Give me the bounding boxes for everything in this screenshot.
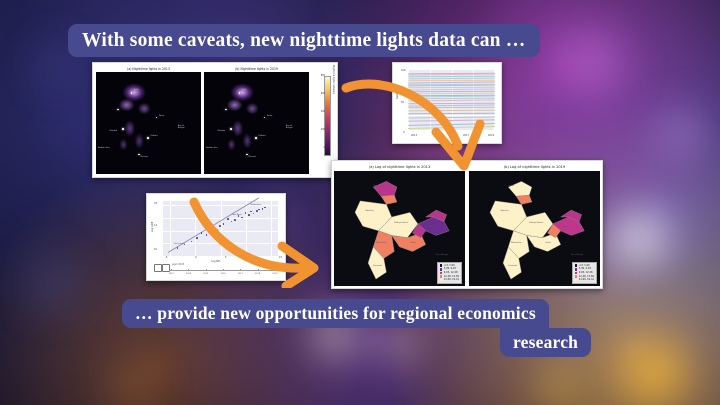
scatter-ytick: 14 xyxy=(154,224,157,227)
line-ytick: 50 xyxy=(401,101,404,104)
nighttime-lights-time-series-figure[interactable]: Radiance 2013 2015 2017 2019 100 50 0 xyxy=(392,62,502,144)
slide-title-banner: With some caveats, new nighttime lights … xyxy=(68,24,540,57)
nighttime-lights-raster-figure[interactable]: (a) Nighttime lights in 2013 Delhi Mumba… xyxy=(92,62,338,178)
slide-subtitle-text-1: … provide new opportunities for regional… xyxy=(135,303,536,324)
slider-track[interactable]: 2013 2014 2015 2016 2017 2018 2019 xyxy=(169,270,277,271)
scatter-xtick: 15 xyxy=(279,256,282,259)
line-xtick: 2017 xyxy=(463,134,469,137)
colorbar-tick-label: 400 xyxy=(321,110,325,113)
ntl-raster-b: Delhi Mumbai Kolkata Chennai Patna Bay o… xyxy=(204,72,309,174)
colorbar-tick-label: 200 xyxy=(321,128,325,131)
choropleth-map-a: Jammu Rajasthan Madhya Pradesh Maharasht… xyxy=(334,171,465,286)
lights-vs-gdp-scatter-figure[interactable]: Maharashtra Tamil Nadu Uttar Pradesh Lak… xyxy=(146,193,286,281)
line-ytick: 100 xyxy=(401,69,406,72)
ntl-raster-a: Delhi Mumbai Kolkata Chennai Patna Bay o… xyxy=(96,72,201,174)
choropleth-caption-b: (b) Log of nighttime lights in 2019 xyxy=(469,163,600,171)
slider-tick-label: 2015 xyxy=(203,273,208,275)
slider-tick-label: 2019 xyxy=(272,273,277,275)
choropleth-caption-a: (a) Log of nighttime lights in 2013 xyxy=(334,163,465,171)
line-chart-ylabel: Radiance xyxy=(396,87,399,99)
scatter-point-label: Uttar Pradesh xyxy=(207,229,219,231)
slider-tick-label: 2017 xyxy=(238,273,243,275)
legend-label: 13.69, 19.41 xyxy=(579,278,594,282)
year-slider-control[interactable]: year=2013 2013 2014 2015 2016 2017 2018 … xyxy=(153,263,279,276)
legend-label: 13.69, 19.41 xyxy=(444,278,459,282)
ntl-map-2019: (b) Nighttime lights in 2019 Delhi Mumba… xyxy=(204,66,309,174)
presentation-slide: (a) Nighttime lights in 2013 Delhi Mumba… xyxy=(0,0,720,405)
scatter-axes: Maharashtra Tamil Nadu Uttar Pradesh Lak… xyxy=(163,201,278,256)
choropleth-legend-b: -inf, 3.99 3.99, 9.93 9.93, 12.48 12.48,… xyxy=(572,262,597,284)
slider-tick-label: 2018 xyxy=(255,273,260,275)
scatter-xtick: -5 xyxy=(165,256,167,259)
line-chart-axes xyxy=(408,69,495,130)
scatter-point-label: Lakshadweep xyxy=(173,243,185,245)
play-button[interactable] xyxy=(154,264,162,272)
choropleth-2013: (a) Log of nighttime lights in 2013 xyxy=(334,163,465,286)
colorbar-title: Nighttime lights radiance xyxy=(332,65,335,94)
pause-button[interactable] xyxy=(162,264,170,272)
colorbar-tick-label: 800 xyxy=(321,74,325,77)
slide-subtitle-banner-line1: … provide new opportunities for regional… xyxy=(122,299,549,328)
slider-tick-label: 2016 xyxy=(220,273,225,275)
scatter-point-label: Maharashtra xyxy=(250,204,261,206)
slide-title-text: With some caveats, new nighttime lights … xyxy=(82,30,526,52)
line-xtick: 2013 xyxy=(411,134,417,137)
scatter-xtick: 0 xyxy=(195,256,197,259)
slide-subtitle-text-2: research xyxy=(513,332,578,353)
slider-tick-label: 2014 xyxy=(186,273,191,275)
choropleth-2019: (b) Log of nighttime lights in 2019 xyxy=(469,163,600,286)
choropleth-legend-a: -inf, 3.99 3.99, 9.93 9.93, 12.48 12.48,… xyxy=(437,262,462,284)
colorbar-tick-label: 600 xyxy=(321,92,325,95)
log-nighttime-lights-choropleth-figure[interactable]: (a) Log of nighttime lights in 2013 xyxy=(331,160,603,289)
slide-subtitle-banner-line2: research xyxy=(500,328,591,357)
line-ytick: 0 xyxy=(403,131,405,134)
slider-current-value: year=2013 xyxy=(172,263,184,266)
scatter-ytick: 10 xyxy=(154,248,157,251)
line-xtick: 2015 xyxy=(437,134,443,137)
scatter-xtick: 10 xyxy=(254,256,257,259)
scatter-xtick: 5 xyxy=(225,256,227,259)
line-xtick: 2019 xyxy=(488,134,494,137)
ntl-colorbar xyxy=(324,76,331,156)
choropleth-map-b: Jammu Rajasthan Madhya Pradesh Maharasht… xyxy=(469,171,600,286)
colorbar-tick-label: 0 xyxy=(324,146,325,149)
slider-tick-label: 2013 xyxy=(169,273,174,275)
scatter-ytick: 18 xyxy=(154,202,157,205)
scatter-point-label: Tamil Nadu xyxy=(232,214,241,216)
ntl-map-2013: (a) Nighttime lights in 2013 Delhi Mumba… xyxy=(96,66,201,174)
